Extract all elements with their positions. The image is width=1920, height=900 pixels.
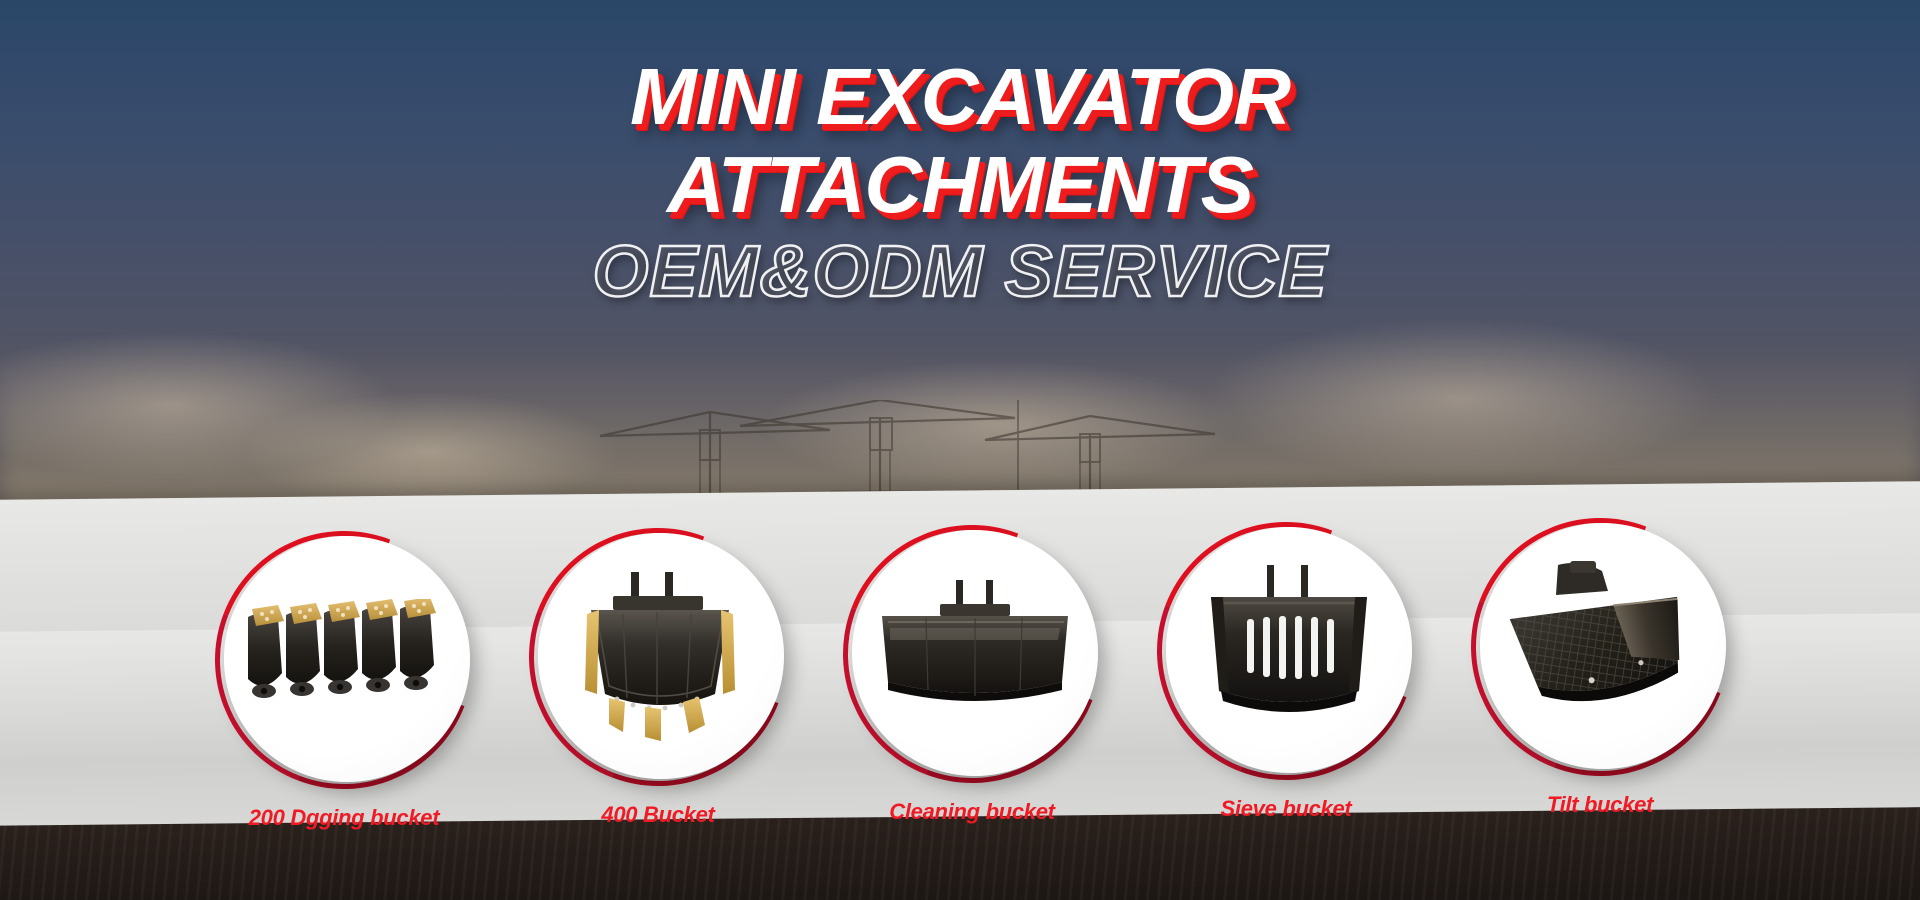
product-label: Cleaning bucket [889, 799, 1054, 825]
product-label: 400 Bucket [601, 802, 714, 828]
product-thumb[interactable] [1471, 518, 1729, 776]
promo-banner: MINI EXCAVATOR ATTACHMENTS OEM&ODM SERVI… [0, 0, 1920, 900]
headline-line-2: ATTACHMENTS [0, 146, 1920, 224]
product-card-400-bucket[interactable]: 400 Bucket [527, 528, 789, 828]
product-image-disc [1480, 523, 1726, 769]
headline-line-3: OEM&ODM SERVICE [0, 237, 1920, 308]
product-thumb[interactable] [529, 528, 787, 786]
product-image-disc [1166, 527, 1412, 773]
cleaning-bucket-icon [870, 578, 1080, 728]
sieve-bucket-icon [1189, 563, 1389, 738]
product-label: 200 Dgging bucket [249, 805, 440, 831]
product-image-disc [538, 533, 784, 779]
headline-line-1: MINI EXCAVATOR [0, 58, 1920, 136]
product-label: Sieve bucket [1221, 796, 1352, 822]
product-card-sieve-bucket[interactable]: Sieve bucket [1155, 522, 1417, 822]
product-label: Tilt bucket [1547, 792, 1653, 818]
tilt-bucket-icon [1498, 559, 1708, 734]
product-thumb[interactable] [215, 531, 473, 789]
headline-block: MINI EXCAVATOR ATTACHMENTS OEM&ODM SERVI… [0, 58, 1920, 307]
product-card-digging-bucket[interactable]: 200 Dgging bucket [213, 531, 475, 831]
product-thumb[interactable] [1157, 522, 1415, 780]
product-list: 200 Dgging bucket [0, 525, 1920, 835]
product-image-disc [852, 530, 1098, 776]
product-card-cleaning-bucket[interactable]: Cleaning bucket [841, 525, 1103, 825]
standard-bucket-icon [561, 566, 761, 746]
product-thumb[interactable] [843, 525, 1101, 783]
product-image-disc [224, 536, 470, 782]
product-card-tilt-bucket[interactable]: Tilt bucket [1469, 518, 1731, 818]
digging-bucket-teeth-icon [242, 599, 452, 719]
